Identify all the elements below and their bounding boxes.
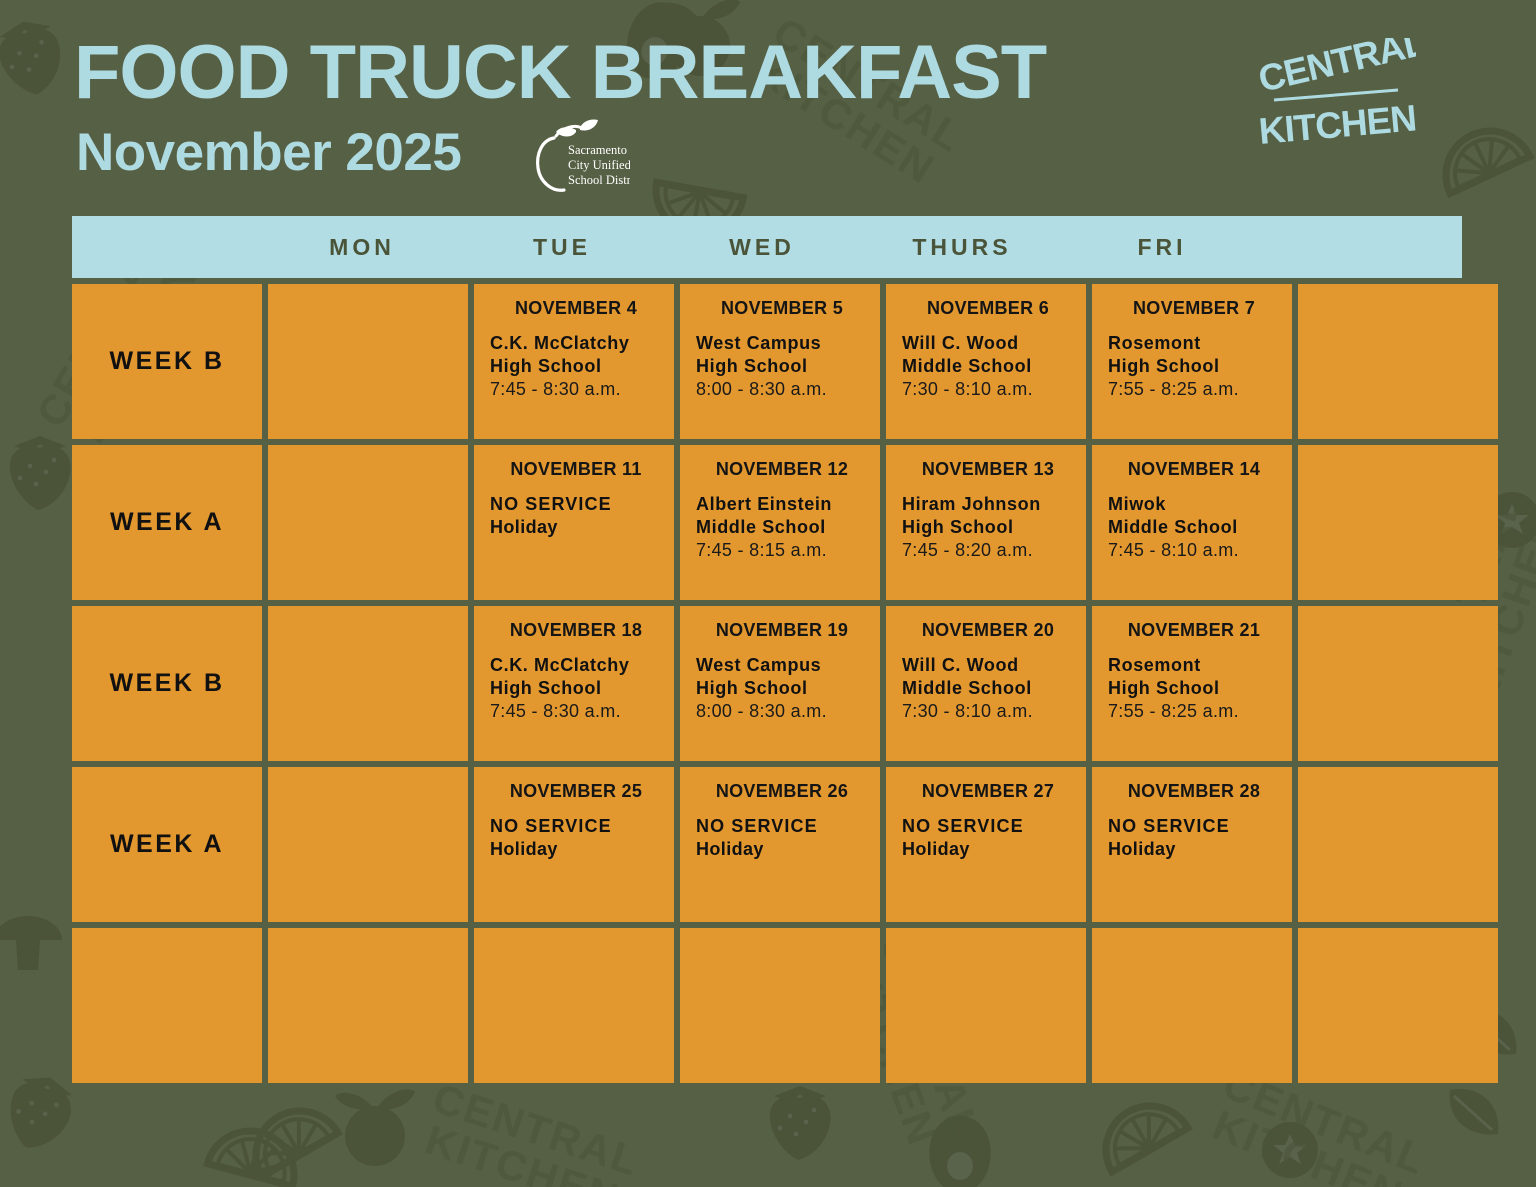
school-name-line1: Rosemont (1108, 654, 1280, 677)
service-time: 7:45 - 8:15 a.m. (696, 539, 868, 562)
school-name-line1: C.K. McClatchy (490, 332, 662, 355)
calendar-day-cell[interactable]: NOVEMBER 20Will C. WoodMiddle School7:30… (886, 606, 1086, 761)
calendar-empty-cell (1092, 928, 1292, 1083)
day-cell-body: Albert EinsteinMiddle School7:45 - 8:15 … (696, 493, 868, 562)
week-label-cell (72, 928, 262, 1083)
service-time: 7:55 - 8:25 a.m. (1108, 378, 1280, 401)
school-name-line2: High School (490, 355, 662, 378)
calendar-day-cell[interactable]: NOVEMBER 26NO SERVICEHoliday (680, 767, 880, 922)
scusd-line3: School District (568, 173, 630, 187)
calendar-day-cell[interactable]: NOVEMBER 21RosemontHigh School7:55 - 8:2… (1092, 606, 1292, 761)
calendar-day-cell[interactable]: NOVEMBER 6Will C. WoodMiddle School7:30 … (886, 284, 1086, 439)
calendar-day-cell[interactable]: NOVEMBER 19West CampusHigh School8:00 - … (680, 606, 880, 761)
day-cell-body: NO SERVICEHoliday (1108, 815, 1280, 861)
no-service-status: NO SERVICE (902, 815, 1074, 838)
day-of-week-header-row: MON TUE WED THURS FRI (72, 216, 1462, 278)
day-date-label: NOVEMBER 18 (490, 620, 662, 641)
day-date-label: NOVEMBER 19 (696, 620, 868, 641)
calendar-week-row: WEEK ANOVEMBER 11NO SERVICEHolidayNOVEMB… (72, 445, 1462, 600)
service-time: 8:00 - 8:30 a.m. (696, 378, 868, 401)
no-service-status: NO SERVICE (490, 493, 662, 516)
calendar-empty-cell (268, 284, 468, 439)
school-name-line1: Rosemont (1108, 332, 1280, 355)
day-cell-body: West CampusHigh School8:00 - 8:30 a.m. (696, 332, 868, 401)
day-date-label: NOVEMBER 28 (1108, 781, 1280, 802)
dow-spacer-left (72, 216, 262, 278)
calendar-day-cell[interactable]: NOVEMBER 28NO SERVICEHoliday (1092, 767, 1292, 922)
day-cell-body: NO SERVICEHoliday (696, 815, 868, 861)
calendar-empty-cell (474, 928, 674, 1083)
day-cell-body: C.K. McClatchyHigh School7:45 - 8:30 a.m… (490, 332, 662, 401)
day-cell-body: RosemontHigh School7:55 - 8:25 a.m. (1108, 332, 1280, 401)
day-date-label: NOVEMBER 4 (490, 298, 662, 319)
school-name-line1: Albert Einstein (696, 493, 868, 516)
calendar-empty-cell (268, 928, 468, 1083)
school-name-line2: High School (1108, 677, 1280, 700)
calendar-empty-cell (1298, 606, 1498, 761)
week-label: WEEK B (110, 347, 225, 376)
dow-fri: FRI (1062, 216, 1262, 278)
school-name-line1: Will C. Wood (902, 332, 1074, 355)
day-cell-body: Will C. WoodMiddle School7:30 - 8:10 a.m… (902, 332, 1074, 401)
school-name-line2: Middle School (902, 677, 1074, 700)
calendar-day-cell[interactable]: NOVEMBER 7RosemontHigh School7:55 - 8:25… (1092, 284, 1292, 439)
day-cell-body: Will C. WoodMiddle School7:30 - 8:10 a.m… (902, 654, 1074, 723)
day-date-label: NOVEMBER 13 (902, 459, 1074, 480)
scusd-line1: Sacramento (568, 143, 627, 157)
school-name-line1: West Campus (696, 654, 868, 677)
day-date-label: NOVEMBER 12 (696, 459, 868, 480)
week-label-cell: WEEK B (72, 606, 262, 761)
service-time: 7:55 - 8:25 a.m. (1108, 700, 1280, 723)
scusd-line2: City Unified (568, 158, 630, 172)
day-date-label: NOVEMBER 20 (902, 620, 1074, 641)
school-name-line1: Will C. Wood (902, 654, 1074, 677)
calendar-week-row: WEEK BNOVEMBER 18C.K. McClatchyHigh Scho… (72, 606, 1462, 761)
week-label-cell: WEEK A (72, 767, 262, 922)
day-date-label: NOVEMBER 21 (1108, 620, 1280, 641)
dow-tue: TUE (462, 216, 662, 278)
page-header: FOOD TRUCK BREAKFAST November 2025 Sacra… (0, 0, 1536, 215)
calendar-day-cell[interactable]: NOVEMBER 5West CampusHigh School8:00 - 8… (680, 284, 880, 439)
day-cell-body: NO SERVICEHoliday (490, 815, 662, 861)
calendar-empty-cell (1298, 928, 1498, 1083)
no-service-status: NO SERVICE (1108, 815, 1280, 838)
calendar-day-cell[interactable]: NOVEMBER 12Albert EinsteinMiddle School7… (680, 445, 880, 600)
calendar-weeks: WEEK BNOVEMBER 4C.K. McClatchyHigh Schoo… (72, 284, 1462, 1083)
school-name-line2: Middle School (902, 355, 1074, 378)
school-name-line1: Hiram Johnson (902, 493, 1074, 516)
calendar-empty-cell (268, 606, 468, 761)
calendar-day-cell[interactable]: NOVEMBER 4C.K. McClatchyHigh School7:45 … (474, 284, 674, 439)
page-subtitle-month: November 2025 (76, 124, 461, 182)
school-name-line2: High School (902, 516, 1074, 539)
day-date-label: NOVEMBER 5 (696, 298, 868, 319)
calendar-empty-cell (1298, 284, 1498, 439)
calendar-day-cell[interactable]: NOVEMBER 18C.K. McClatchyHigh School7:45… (474, 606, 674, 761)
school-name-line2: High School (696, 355, 868, 378)
day-cell-body: MiwokMiddle School7:45 - 8:10 a.m. (1108, 493, 1280, 562)
day-date-label: NOVEMBER 26 (696, 781, 868, 802)
week-label-cell: WEEK B (72, 284, 262, 439)
calendar-week-row: WEEK ANOVEMBER 25NO SERVICEHolidayNOVEMB… (72, 767, 1462, 922)
service-time: 7:45 - 8:20 a.m. (902, 539, 1074, 562)
service-time: 7:45 - 8:30 a.m. (490, 378, 662, 401)
scusd-apple-logo: Sacramento City Unified School District (530, 118, 630, 194)
ck-logo-line2: KITCHEN (1257, 97, 1416, 152)
day-cell-body: RosemontHigh School7:55 - 8:25 a.m. (1108, 654, 1280, 723)
holiday-note: Holiday (490, 838, 662, 861)
calendar-grid: MON TUE WED THURS FRI WEEK BNOVEMBER 4C.… (72, 216, 1462, 1083)
calendar-day-cell[interactable]: NOVEMBER 25NO SERVICEHoliday (474, 767, 674, 922)
service-time: 7:45 - 8:30 a.m. (490, 700, 662, 723)
calendar-empty-cell (268, 445, 468, 600)
school-name-line2: High School (696, 677, 868, 700)
central-kitchen-logo: CENTRAL KITCHEN (1256, 38, 1416, 156)
holiday-note: Holiday (696, 838, 868, 861)
dow-wed: WED (662, 216, 862, 278)
day-cell-body: Hiram JohnsonHigh School7:45 - 8:20 a.m. (902, 493, 1074, 562)
calendar-empty-cell (268, 767, 468, 922)
calendar-week-row: WEEK BNOVEMBER 4C.K. McClatchyHigh Schoo… (72, 284, 1462, 439)
calendar-empty-cell (886, 928, 1086, 1083)
calendar-day-cell[interactable]: NOVEMBER 11NO SERVICEHoliday (474, 445, 674, 600)
day-cell-body: NO SERVICEHoliday (902, 815, 1074, 861)
day-date-label: NOVEMBER 27 (902, 781, 1074, 802)
service-time: 7:30 - 8:10 a.m. (902, 378, 1074, 401)
calendar-empty-cell (1298, 445, 1498, 600)
holiday-note: Holiday (902, 838, 1074, 861)
service-time: 7:30 - 8:10 a.m. (902, 700, 1074, 723)
no-service-status: NO SERVICE (490, 815, 662, 838)
day-cell-body: NO SERVICEHoliday (490, 493, 662, 539)
week-label: WEEK A (110, 830, 224, 859)
week-label-cell: WEEK A (72, 445, 262, 600)
school-name-line1: C.K. McClatchy (490, 654, 662, 677)
service-time: 8:00 - 8:30 a.m. (696, 700, 868, 723)
holiday-note: Holiday (490, 516, 662, 539)
day-cell-body: West CampusHigh School8:00 - 8:30 a.m. (696, 654, 868, 723)
day-date-label: NOVEMBER 6 (902, 298, 1074, 319)
school-name-line2: High School (1108, 355, 1280, 378)
dow-mon: MON (262, 216, 462, 278)
school-name-line2: Middle School (1108, 516, 1280, 539)
week-label: WEEK A (110, 508, 224, 537)
week-label: WEEK B (110, 669, 225, 698)
service-time: 7:45 - 8:10 a.m. (1108, 539, 1280, 562)
no-service-status: NO SERVICE (696, 815, 868, 838)
day-cell-body: C.K. McClatchyHigh School7:45 - 8:30 a.m… (490, 654, 662, 723)
calendar-empty-cell (1298, 767, 1498, 922)
calendar-week-row (72, 928, 1462, 1083)
day-date-label: NOVEMBER 11 (490, 459, 662, 480)
day-date-label: NOVEMBER 25 (490, 781, 662, 802)
school-name-line1: Miwok (1108, 493, 1280, 516)
day-date-label: NOVEMBER 14 (1108, 459, 1280, 480)
holiday-note: Holiday (1108, 838, 1280, 861)
calendar-day-cell[interactable]: NOVEMBER 13Hiram JohnsonHigh School7:45 … (886, 445, 1086, 600)
calendar-empty-cell (680, 928, 880, 1083)
dow-thurs: THURS (862, 216, 1062, 278)
day-date-label: NOVEMBER 7 (1108, 298, 1280, 319)
calendar-day-cell[interactable]: NOVEMBER 14MiwokMiddle School7:45 - 8:10… (1092, 445, 1292, 600)
dow-spacer-right (1262, 216, 1462, 278)
school-name-line1: West Campus (696, 332, 868, 355)
school-name-line2: Middle School (696, 516, 868, 539)
calendar-day-cell[interactable]: NOVEMBER 27NO SERVICEHoliday (886, 767, 1086, 922)
page-title: FOOD TRUCK BREAKFAST (74, 33, 1046, 113)
school-name-line2: High School (490, 677, 662, 700)
